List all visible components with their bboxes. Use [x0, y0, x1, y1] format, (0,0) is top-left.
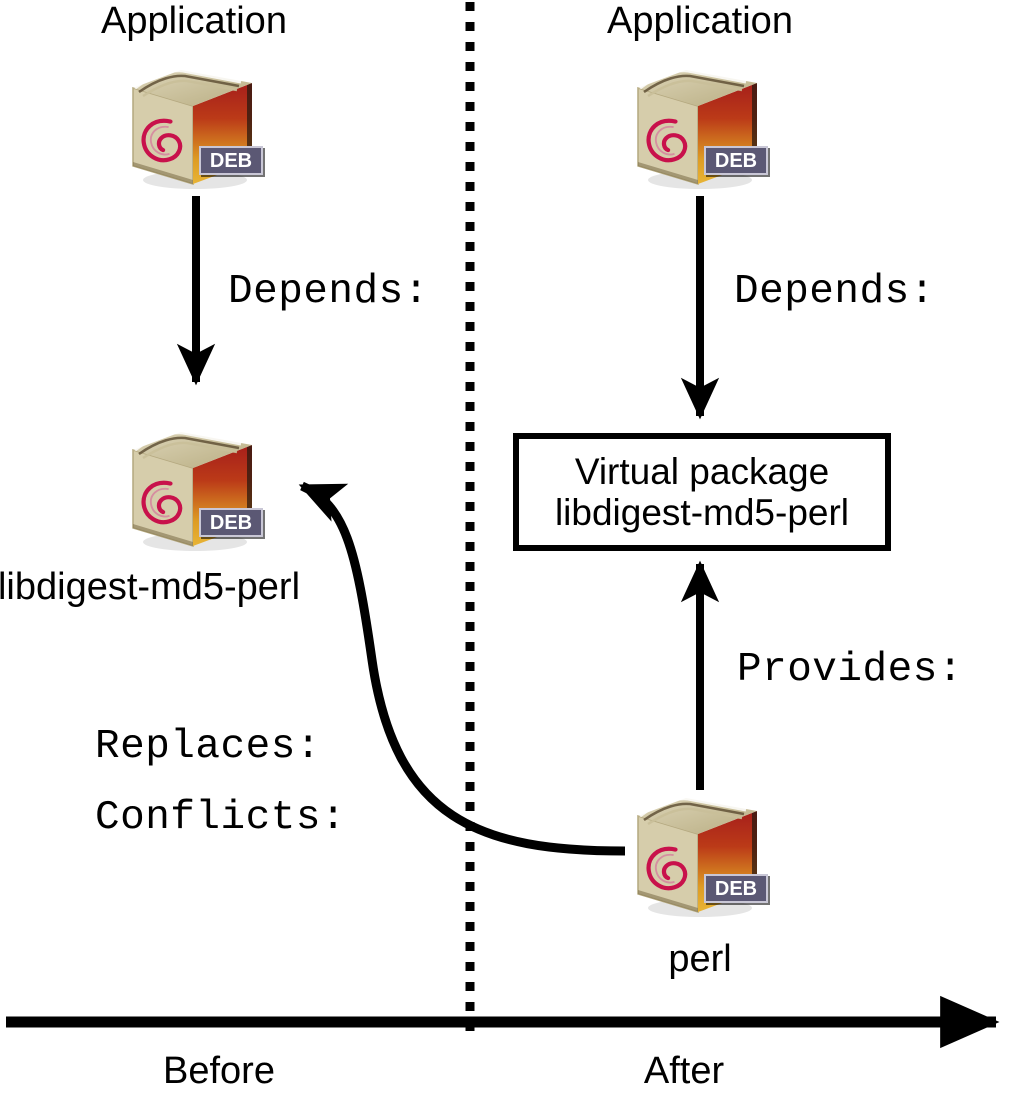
debian-package-icon: DEB — [121, 58, 271, 192]
after-application-label: Application — [607, 2, 793, 40]
debian-package-icon: DEB — [626, 58, 776, 192]
deb-badge: DEB — [199, 146, 263, 175]
virtual-package-line2: libdigest-md5-perl — [555, 492, 849, 533]
after-depends-label: Depends: — [734, 272, 935, 313]
debian-package-icon: DEB — [626, 786, 776, 920]
deb-badge: DEB — [704, 874, 768, 903]
debian-package-icon: DEB — [121, 420, 271, 554]
before-application-label: Application — [101, 2, 287, 40]
deb-badge-text: DEB — [715, 151, 757, 171]
replaces-label: Replaces: — [95, 727, 321, 768]
timeline-after-label: After — [644, 1052, 724, 1090]
virtual-package-line1: Virtual package — [575, 451, 829, 492]
diagram-canvas: Application Application Depends: Depends… — [0, 0, 1024, 1094]
deb-badge-text: DEB — [210, 151, 252, 171]
before-target-package-label: libdigest-md5-perl — [0, 568, 300, 606]
before-depends-label: Depends: — [228, 272, 429, 313]
conflicts-label: Conflicts: — [95, 798, 346, 839]
provides-label: Provides: — [737, 650, 963, 691]
virtual-package-box: Virtual package libdigest-md5-perl — [513, 433, 891, 551]
timeline-before-label: Before — [163, 1052, 275, 1090]
deb-badge-text: DEB — [715, 879, 757, 899]
deb-badge-text: DEB — [210, 513, 252, 533]
deb-badge: DEB — [199, 508, 263, 537]
provider-package-label: perl — [668, 940, 731, 978]
deb-badge: DEB — [704, 146, 768, 175]
